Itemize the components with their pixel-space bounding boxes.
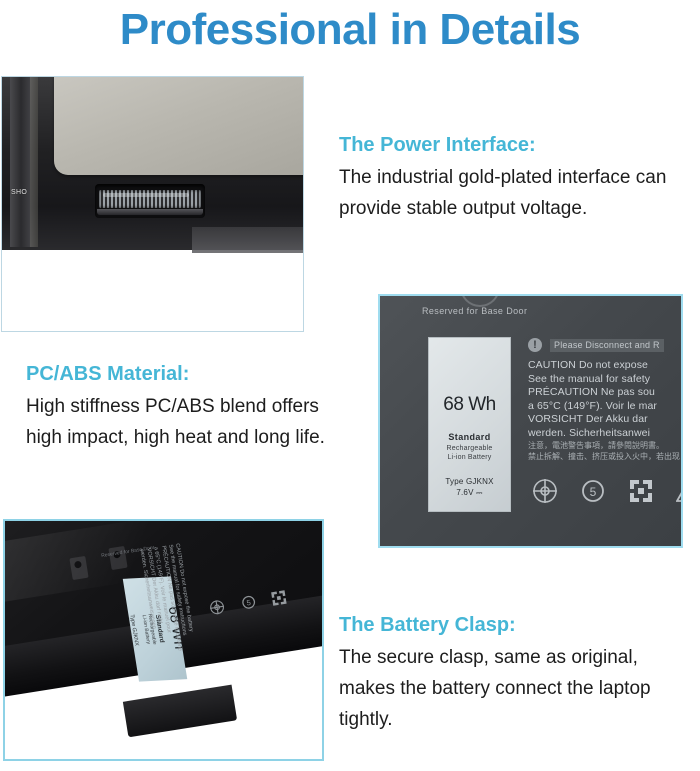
connector-scene: SHO: [2, 77, 303, 331]
battery-chemistry-line1: Rechargeable: [429, 444, 510, 453]
connector-lip: [97, 209, 203, 215]
chassis-shadow: [192, 227, 304, 253]
battery-voltage-line: 7.6V ⎓: [429, 487, 510, 498]
feature-heading-battery-clasp: The Battery Clasp:: [339, 611, 697, 639]
feature-heading-power-interface: The Power Interface:: [339, 131, 697, 159]
caution-line-3: PRÉCAUTION Ne pas sou: [528, 386, 683, 400]
warning-triangle-icon: [676, 478, 683, 504]
exclamation-icon: !: [528, 338, 542, 352]
target-icon: [532, 478, 558, 504]
caution-line-6: werden. Sicherheitsanwei: [528, 427, 683, 441]
caution-line-1: CAUTION Do not expose: [528, 359, 683, 373]
gold-plated-connector-socket: [95, 184, 205, 218]
feature-heading-pcabs-material: PC/ABS Material:: [26, 360, 331, 388]
battery-chemistry-line2: Li-ion Battery: [429, 453, 510, 462]
recycle-square-icon: [270, 589, 288, 607]
certification-icon-row: 5: [532, 478, 683, 508]
caution-line-cjk-1: 注意，電池警告事項，請參閱說明書。: [528, 440, 683, 451]
caution-line-cjk-2: 禁止拆解、撞击、挤压或投入火中，若出现: [528, 451, 683, 462]
svg-text:5: 5: [590, 485, 597, 499]
connector-pins-highlight: [103, 193, 189, 197]
svg-text:5: 5: [246, 598, 252, 608]
battery-clasp-foot: [123, 685, 237, 738]
feature-pcabs-material: PC/ABS Material: High stiffness PC/ABS b…: [26, 360, 331, 453]
feature-body-power-interface: The industrial gold-plated interface can…: [339, 162, 697, 224]
photo-battery-full: Reserved for Base Door 68 Wh Standard Re…: [3, 519, 324, 761]
disconnect-warning-row: ! Please Disconnect and R: [528, 338, 683, 353]
feature-body-pcabs-material: High stiffness PC/ABS blend offers high …: [26, 391, 331, 453]
caution-line-2: See the manual for safety: [528, 373, 683, 387]
reserved-for-base-door-text: Reserved for Base Door: [422, 306, 527, 316]
caution-line-4: a 65°C (149°F). Voir le mar: [528, 400, 683, 414]
feature-battery-clasp: The Battery Clasp: The secure clasp, sam…: [339, 611, 697, 735]
photo-battery-label: Reserved for Base Door 68 Wh Standard Re…: [378, 294, 683, 548]
recycle-square-icon: [628, 478, 654, 504]
chassis-rail: [10, 77, 30, 247]
feature-power-interface: The Power Interface: The industrial gold…: [339, 131, 697, 224]
chassis-microtext: SHO: [11, 189, 41, 197]
disconnect-banner-text: Please Disconnect and R: [550, 339, 664, 352]
battery-mount-hole-1: [69, 556, 88, 580]
battery-chemistry-text: Rechargeable Li-ion Battery: [429, 444, 510, 462]
battery-capacity-text: 68 Wh: [429, 394, 510, 416]
caution-line-5: VORSICHT Der Akku dar: [528, 413, 683, 427]
circled-five-icon: 5: [240, 594, 257, 611]
battery-standard-text: Standard: [429, 432, 510, 442]
chassis-rail-highlight: [30, 77, 38, 247]
photo-power-interface: SHO: [1, 76, 304, 332]
battery-type-line1: Type GJKNX: [429, 476, 510, 487]
feature-body-battery-clasp: The secure clasp, same as original, make…: [339, 642, 697, 735]
target-icon: [208, 599, 225, 616]
battery-spec-label: 68 Wh Standard Rechargeable Li-ion Batte…: [428, 337, 511, 512]
battery-label-scene: Reserved for Base Door 68 Wh Standard Re…: [380, 296, 681, 546]
page-title: Professional in Details: [0, 2, 700, 58]
battery-type-text: Type GJKNX 7.6V ⎓: [429, 476, 510, 498]
circled-five-icon: 5: [580, 478, 606, 504]
palm-rest-panel: [54, 76, 304, 175]
caution-text-block: CAUTION Do not expose See the manual for…: [528, 359, 683, 462]
battery-full-scene: Reserved for Base Door 68 Wh Standard Re…: [5, 521, 322, 759]
